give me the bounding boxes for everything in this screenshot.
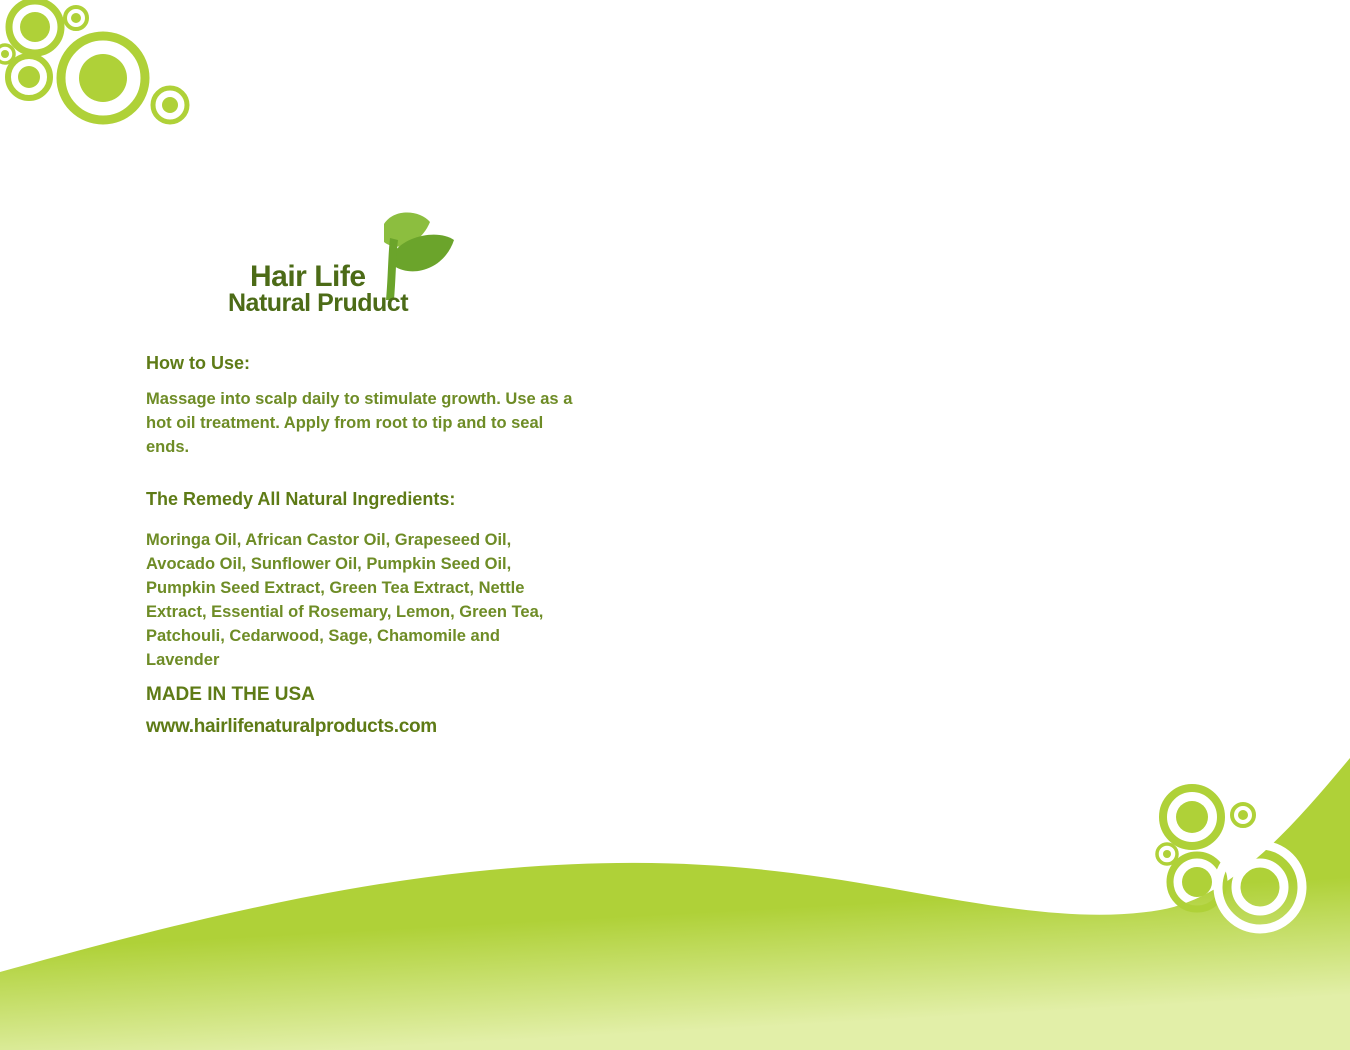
brand-logo-small: Hair Life Natural Pruduct: [228, 212, 453, 322]
left-panel-back-of-label: Hair Life Natural Pruduct How to Use: Ma…: [0, 0, 675, 1050]
website-url-text[interactable]: www.hairlifenaturalproducts.com: [146, 716, 437, 738]
brand-name-line-2: Natural Pruduct: [228, 289, 408, 318]
how-to-use-body-text: Massage into scalp daily to stimulate gr…: [146, 387, 576, 459]
ingredients-body-text: Moringa Oil, African Castor Oil, Grapese…: [146, 528, 576, 672]
country-of-origin-text: MADE IN THE USA: [146, 684, 315, 706]
ingredients-heading: The Remedy All Natural Ingredients:: [146, 489, 455, 510]
how-to-use-heading: How to Use:: [146, 353, 250, 374]
product-label-artboard: Hair Life Natural Pruduct How to Use: Ma…: [0, 0, 1350, 1050]
right-panel-front-of-label: Hair Life Natural Pruduct Bring life bac…: [675, 0, 1350, 1050]
